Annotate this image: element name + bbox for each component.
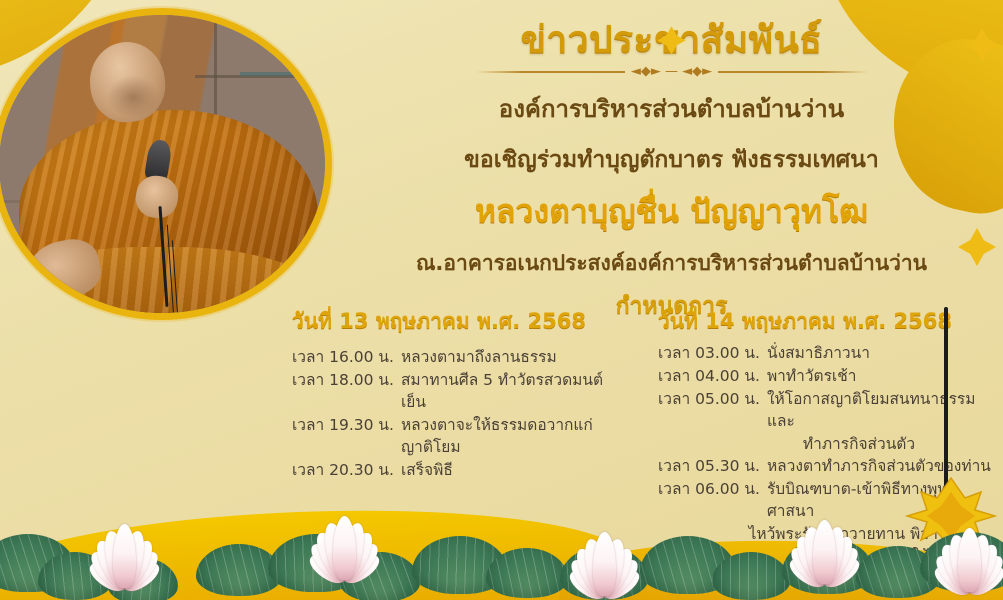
lotus-flower-icon — [280, 490, 408, 586]
event-time: เวลา 03.00 น. — [658, 342, 760, 364]
event-time: เวลา 05.30 น. — [658, 455, 760, 477]
divider-flourish: ◄◆► — ◄◆► — [625, 65, 718, 78]
event-time: เวลา 16.00 น. — [292, 346, 394, 368]
title-row: ข่าวประชาสัมพันธ์ — [340, 20, 1003, 61]
event-time: เวลา 18.00 น. — [292, 369, 394, 413]
header-block: ข่าวประชาสัมพันธ์ ◄◆► — ◄◆► องค์การบริหา… — [340, 20, 1003, 324]
event-desc: สมาทานศีล 5 ทำวัตรสวดมนต์เย็น — [401, 369, 628, 413]
event-desc: นั่งสมาธิภาวนา — [767, 342, 870, 364]
lotus-flower-icon — [905, 502, 1003, 598]
event-time: เวลา 19.30 น. — [292, 414, 394, 458]
monk-photo — [0, 15, 325, 313]
lotus-flower-icon — [60, 498, 188, 594]
event-desc: หลวงตามาถึงลานธรรม — [401, 346, 557, 368]
list-item: เวลา 20.30 น. เสร็จพิธี — [292, 459, 628, 481]
title-divider-ornament: ◄◆► — ◄◆► — [476, 65, 868, 79]
list-item: เวลา 19.30 น. หลวงตาจะให้ธรรมดอวากแก่ญาต… — [292, 414, 628, 458]
list-item: เวลา 18.00 น. สมาทานศีล 5 ทำวัตรสวดมนต์เ… — [292, 369, 628, 413]
lotus-flower-icon — [540, 506, 668, 600]
event-desc: เสร็จพิธี — [401, 459, 453, 481]
invitation-line: ขอเชิญร่วมทำบุญตักบาตร ฟังธรรมเทศนา — [340, 142, 1003, 178]
wall-seam — [214, 15, 217, 116]
list-item: เวลา 16.00 น. หลวงตามาถึงลานธรรม — [292, 346, 628, 368]
monk-name: หลวงตาบุญชื่น ปัญญาวุทโฒ — [340, 186, 1003, 237]
wall-seam — [240, 72, 318, 76]
event-desc: พาทำวัตรเช้า — [767, 365, 856, 387]
organization-name: องค์การบริหารส่วนตำบลบ้านว่าน — [340, 89, 1003, 128]
monk-face — [107, 75, 159, 120]
event-desc: หลวงตาจะให้ธรรมดอวากแก่ญาติโยม — [401, 414, 628, 458]
poster-canvas: ข่าวประชาสัมพันธ์ ◄◆► — ◄◆► องค์การบริหา… — [0, 0, 1003, 600]
quatrefoil-icon-right — [658, 26, 686, 54]
event-time: เวลา 05.00 น. — [658, 388, 760, 432]
venue-line: ณ.อาคารอเนกประสงค์องค์การบริหารส่วนตำบลบ… — [340, 247, 1003, 280]
day-heading: วันที่ 13 พฤษภาคม พ.ศ. 2568 — [292, 305, 628, 338]
event-time: เวลา 06.00 น. — [658, 478, 760, 522]
monk-photo-frame — [0, 8, 332, 320]
lotus-flower-icon — [760, 494, 888, 590]
event-desc: ให้โอกาสญาติโยมสนทนาธรรมและ — [767, 388, 996, 432]
event-time: เวลา 04.00 น. — [658, 365, 760, 387]
event-time: เวลา 20.30 น. — [292, 459, 394, 481]
event-list-day1: เวลา 16.00 น. หลวงตามาถึงลานธรรม เวลา 18… — [292, 346, 628, 481]
event-desc: หลวงตาทำภารกิจส่วนตัวของท่าน — [767, 455, 991, 477]
